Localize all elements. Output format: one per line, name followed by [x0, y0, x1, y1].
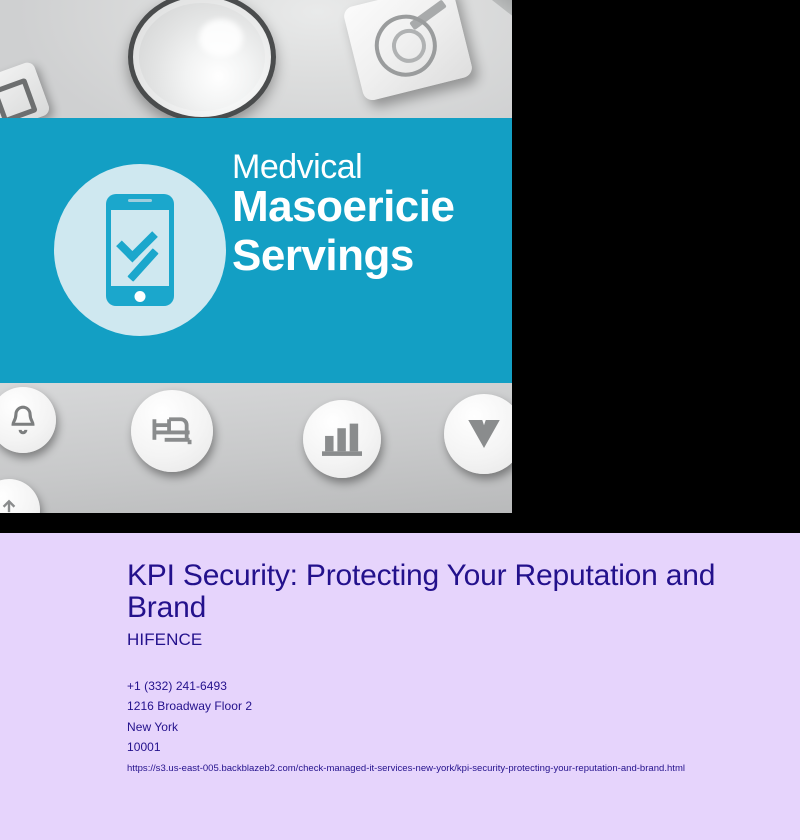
bar-chart-icon — [303, 400, 381, 478]
banner-line-2: Masoericie — [232, 185, 512, 229]
banner-line-1: Medvical — [232, 150, 512, 184]
partial-icon-circle — [0, 479, 40, 513]
contact-postal-code: 10001 — [127, 737, 787, 757]
banner-headline: Medvical Masoericie Servings — [232, 150, 512, 278]
desk-surface-top — [0, 0, 512, 120]
magnifier-icon — [128, 0, 276, 122]
source-url-link[interactable]: https://s3.us-east-005.backblazeb2.com/c… — [127, 763, 787, 774]
teal-banner: Medvical Masoericie Servings — [0, 118, 512, 383]
contact-block: +1 (332) 241-6493 1216 Broadway Floor 2 … — [127, 676, 787, 757]
article-info-panel: KPI Security: Protecting Your Reputation… — [0, 533, 800, 840]
shield-heart-icon — [444, 394, 512, 474]
phone-home-button-shape — [135, 291, 146, 302]
organization-name: HIFENCE — [127, 630, 787, 650]
lock-ring-shape — [368, 8, 443, 83]
contact-city: New York — [127, 717, 787, 737]
bell-icon — [0, 387, 56, 453]
hero-media-band: Medvical Masoericie Servings — [0, 0, 800, 533]
padlock-card-icon — [342, 0, 474, 102]
article-info-inner: KPI Security: Protecting Your Reputation… — [127, 560, 787, 774]
banner-line-3: Servings — [232, 234, 512, 278]
phone-shape — [106, 194, 174, 306]
phone-screen-shape — [111, 210, 169, 286]
contact-phone[interactable]: +1 (332) 241-6493 — [127, 676, 787, 696]
desk-surface-bottom — [0, 383, 512, 513]
desk-edge-streak — [467, 0, 512, 54]
hospital-bed-icon — [131, 390, 213, 472]
contact-street: 1216 Broadway Floor 2 — [127, 696, 787, 716]
hero-photo: Medvical Masoericie Servings — [0, 0, 512, 513]
phone-speaker-shape — [128, 199, 152, 202]
page-title: KPI Security: Protecting Your Reputation… — [127, 560, 727, 624]
smartphone-checkmark-icon — [54, 164, 226, 336]
